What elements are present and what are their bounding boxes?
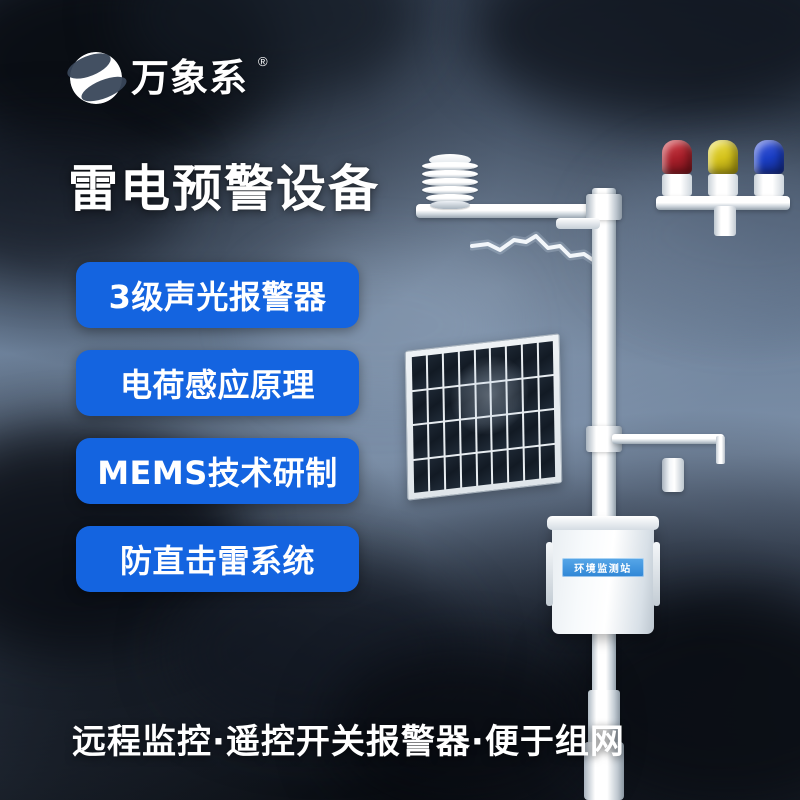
feature-badge-list: 3级声光报警器 电荷感应原理 MEMS技术研制 防直击雷系统 bbox=[76, 262, 359, 592]
blue-alarm-beacon bbox=[754, 140, 784, 196]
enclosure-tab-left bbox=[546, 542, 553, 606]
feature-badge-4: 防直击雷系统 bbox=[76, 526, 359, 592]
red-alarm-beacon bbox=[662, 140, 692, 196]
weather-monitoring-station: 环境监测站 bbox=[380, 130, 800, 800]
brand-logo: 万象系 ® bbox=[70, 52, 268, 104]
mast-collar-top bbox=[586, 194, 622, 220]
footer-tagline: 远程监控·遥控开关报警器·便于组网 bbox=[72, 714, 625, 763]
controller-enclosure: 环境监测站 bbox=[552, 522, 654, 634]
enclosure-label: 环境监测站 bbox=[562, 558, 644, 577]
rain-gauge-sensor bbox=[662, 458, 684, 492]
solar-panel bbox=[405, 333, 563, 500]
solar-cell-grid bbox=[412, 341, 555, 493]
alarm-beacon-stack bbox=[662, 142, 784, 218]
radiation-shield-sensor bbox=[422, 158, 478, 208]
enclosure-lid bbox=[547, 516, 659, 530]
feature-badge-2: 电荷感应原理 bbox=[76, 350, 359, 416]
station-mast bbox=[592, 188, 616, 748]
page-title: 雷电预警设备 bbox=[68, 163, 380, 216]
solar-panel-strut bbox=[556, 218, 600, 229]
feature-badge-1: 3级声光报警器 bbox=[76, 262, 359, 328]
enclosure-tab-right bbox=[653, 542, 660, 606]
poster-canvas: 万象系 ® 雷电预警设备 3级声光报警器 电荷感应原理 MEMS技术研制 防直击… bbox=[0, 0, 800, 800]
wanxiangxi-swoosh-logo-icon bbox=[70, 52, 122, 104]
yellow-alarm-beacon bbox=[708, 140, 738, 196]
right-crossarm bbox=[612, 434, 724, 444]
registered-trademark-icon: ® bbox=[258, 54, 268, 69]
beacon-mount-stem bbox=[714, 206, 736, 236]
feature-badge-3: MEMS技术研制 bbox=[76, 438, 359, 504]
brand-name: 万象系 bbox=[131, 59, 248, 97]
right-crossarm-dropleg bbox=[716, 436, 725, 464]
